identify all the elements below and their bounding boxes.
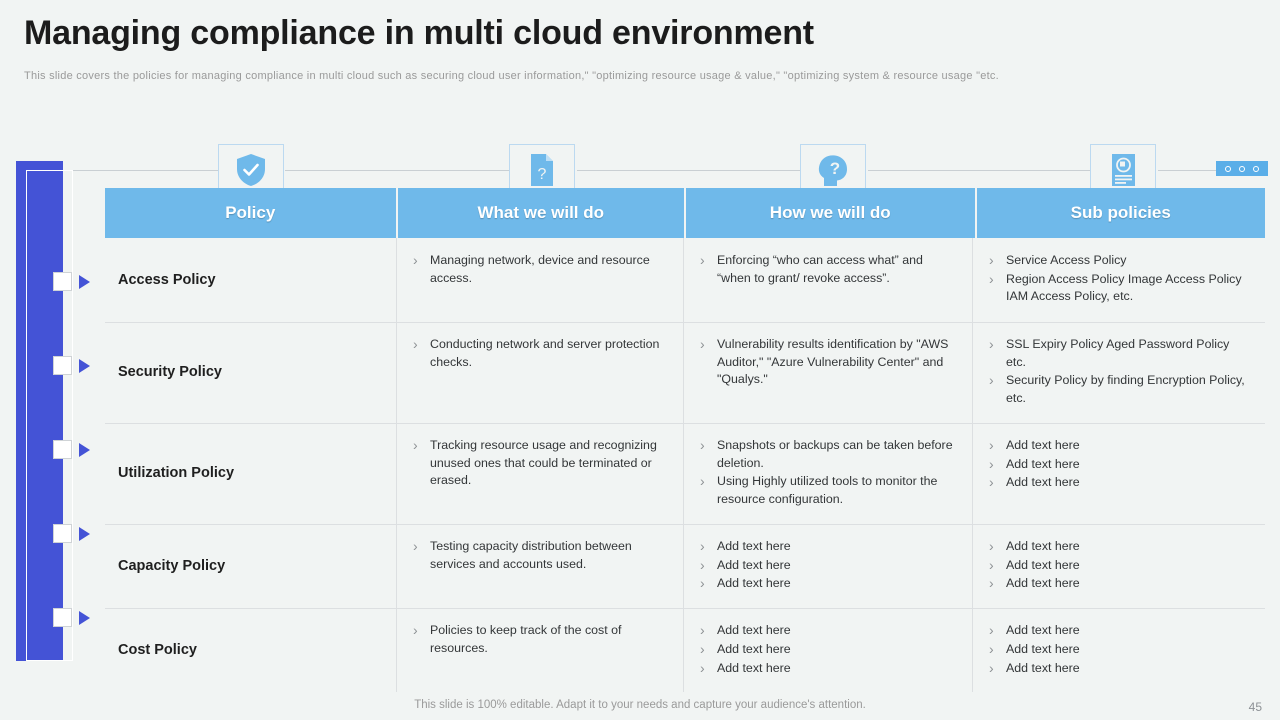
play-triangle-icon [79,359,90,373]
list-item: Region Access Policy Image Access Policy… [986,271,1247,306]
list-item: Service Access Policy [986,252,1247,270]
left-accent-outline [26,170,73,661]
bullet-list: Enforcing “who can access what” and “whe… [697,252,958,287]
list-item: Testing capacity distribution between se… [410,538,669,573]
policy-label: Utilization Policy [118,465,234,481]
slide-canvas: Managing compliance in multi cloud envir… [0,0,1280,720]
column-header-policy: Policy [105,188,396,238]
play-triangle-icon [79,443,90,457]
connector-line-3 [577,170,800,171]
list-item: Policies to keep track of the cost of re… [410,622,669,657]
cell-policy: Security Policy [105,322,396,423]
column-header-what: What we will do [398,188,685,238]
bullet-list: Add text here Add text here Add text her… [697,622,958,677]
page-subtitle: This slide covers the policies for manag… [24,70,1164,82]
head-question-icon: ? [816,153,850,187]
checkbox-icon[interactable] [53,440,72,459]
list-item: Add text here [697,538,958,556]
cell-what: Managing network, device and resource ac… [396,238,683,322]
svg-text:?: ? [830,159,840,178]
list-item: Add text here [986,437,1247,455]
cell-policy: Cost Policy [105,608,396,692]
table-row: Utilization Policy Tracking resource usa… [105,423,1265,524]
list-item: Conducting network and server protection… [410,336,669,371]
table-row: Cost Policy Policies to keep track of th… [105,608,1265,692]
bullet-list: Testing capacity distribution between se… [410,538,669,573]
cell-sub: Add text here Add text here Add text her… [972,608,1261,692]
cell-policy: Capacity Policy [105,524,396,608]
checkbox-icon[interactable] [53,272,72,291]
cell-how: Enforcing “who can access what” and “whe… [683,238,972,322]
row-marker-2[interactable] [53,356,103,376]
report-document-icon [1110,153,1137,187]
list-item: Managing network, device and resource ac… [410,252,669,287]
policy-table: Policy What we will do How we will do Su… [105,188,1265,692]
svg-text:?: ? [538,166,547,183]
table-row: Security Policy Conducting network and s… [105,322,1265,423]
column-header-how: How we will do [686,188,975,238]
list-item: Add text here [697,557,958,575]
list-item: Add text here [986,538,1247,556]
dot-icon-3 [1253,166,1259,172]
cell-what: Tracking resource usage and recognizing … [396,423,683,524]
list-item: Add text here [986,622,1247,640]
cell-sub: Service Access Policy Region Access Poli… [972,238,1261,322]
cell-policy: Access Policy [105,238,396,322]
checkbox-icon[interactable] [53,524,72,543]
cell-what: Testing capacity distribution between se… [396,524,683,608]
list-item: Add text here [986,641,1247,659]
policy-label: Security Policy [118,364,222,380]
cell-how: Add text here Add text here Add text her… [683,608,972,692]
checkbox-icon[interactable] [53,608,72,627]
bullet-list: Vulnerability results identification by … [697,336,958,389]
cell-how: Add text here Add text here Add text her… [683,524,972,608]
list-item: Snapshots or backups can be taken before… [697,437,958,472]
column-header-sub: Sub policies [977,188,1266,238]
list-item: Add text here [986,456,1247,474]
shield-check-icon [236,153,266,187]
bullet-list: Add text here Add text here Add text her… [697,538,958,593]
list-item: SSL Expiry Policy Aged Password Policy e… [986,336,1247,371]
bullet-list: SSL Expiry Policy Aged Password Policy e… [986,336,1247,408]
bullet-list: Snapshots or backups can be taken before… [697,437,958,509]
list-item: Add text here [986,474,1247,492]
policy-label: Access Policy [118,272,216,288]
list-item: Security Policy by finding Encryption Po… [986,372,1247,407]
cell-what: Conducting network and server protection… [396,322,683,423]
connector-line-2 [285,170,510,171]
table-header-row: Policy What we will do How we will do Su… [105,188,1265,238]
page-number: 45 [1249,700,1262,714]
play-triangle-icon [79,527,90,541]
list-item: Add text here [986,557,1247,575]
cell-sub: SSL Expiry Policy Aged Password Policy e… [972,322,1261,423]
row-marker-1[interactable] [53,272,103,292]
dot-icon-2 [1239,166,1245,172]
document-question-icon: ? [529,153,555,187]
row-marker-4[interactable] [53,524,103,544]
list-item: Vulnerability results identification by … [697,336,958,389]
list-item: Add text here [697,660,958,678]
policy-label: Cost Policy [118,642,197,658]
bullet-list: Policies to keep track of the cost of re… [410,622,669,657]
bullet-list: Add text here Add text here Add text her… [986,538,1247,593]
bullet-list: Conducting network and server protection… [410,336,669,371]
three-dots-chip [1216,161,1268,176]
cell-what: Policies to keep track of the cost of re… [396,608,683,692]
list-item: Add text here [697,641,958,659]
list-item: Enforcing “who can access what” and “whe… [697,252,958,287]
bullet-list: Service Access Policy Region Access Poli… [986,252,1247,306]
footer-note: This slide is 100% editable. Adapt it to… [0,699,1280,711]
list-item: Tracking resource usage and recognizing … [410,437,669,490]
play-triangle-icon [79,275,90,289]
cell-how: Vulnerability results identification by … [683,322,972,423]
checkbox-icon[interactable] [53,356,72,375]
list-item: Add text here [697,575,958,593]
row-marker-3[interactable] [53,440,103,460]
bullet-list: Managing network, device and resource ac… [410,252,669,287]
connector-line-4 [868,170,1090,171]
table-row: Capacity Policy Testing capacity distrib… [105,524,1265,608]
cell-policy: Utilization Policy [105,423,396,524]
cell-sub: Add text here Add text here Add text her… [972,524,1261,608]
bullet-list: Add text here Add text here Add text her… [986,437,1247,492]
row-marker-5[interactable] [53,608,103,628]
list-item: Add text here [986,575,1247,593]
play-triangle-icon [79,611,90,625]
cell-how: Snapshots or backups can be taken before… [683,423,972,524]
cell-sub: Add text here Add text here Add text her… [972,423,1261,524]
list-item: Using Highly utilized tools to monitor t… [697,473,958,508]
table-row: Access Policy Managing network, device a… [105,238,1265,322]
list-item: Add text here [697,622,958,640]
policy-label: Capacity Policy [118,558,225,574]
bullet-list: Tracking resource usage and recognizing … [410,437,669,490]
connector-line-5 [1158,170,1218,171]
dot-icon-1 [1225,166,1231,172]
page-title: Managing compliance in multi cloud envir… [24,14,814,53]
bullet-list: Add text here Add text here Add text her… [986,622,1247,677]
list-item: Add text here [986,660,1247,678]
